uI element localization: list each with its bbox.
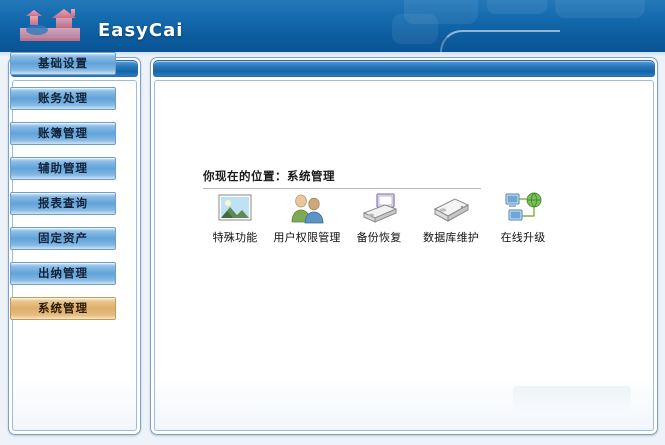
roof-house-logo-icon — [12, 4, 90, 48]
module-item[interactable]: 数据库维护 — [415, 185, 487, 245]
sidebar-item-system-management[interactable]: 系统管理 — [10, 297, 116, 320]
module-item-label: 在线升级 — [487, 229, 559, 245]
content-panel-titlebar — [153, 60, 655, 77]
module-item-label: 备份恢复 — [343, 229, 415, 245]
header-decoration-rect — [392, 14, 438, 44]
sidebar-item-ledger-management[interactable]: 账簿管理 — [10, 122, 116, 145]
module-item[interactable]: 备份恢复 — [343, 185, 415, 245]
content-panel: 你现在的位置：系统管理 特殊功能 用户权限管理 备份恢复 — [150, 57, 658, 435]
module-item-label: 特殊功能 — [199, 229, 271, 245]
sidebar-item-basic-settings[interactable]: 基础设置 — [10, 52, 116, 75]
backup-drive-screen-icon — [359, 191, 399, 225]
hard-disk-icon — [431, 191, 471, 225]
sidebar-item-account-processing[interactable]: 账务处理 — [10, 87, 116, 110]
header-decoration-swoosh — [440, 30, 560, 52]
content-panel-body: 你现在的位置：系统管理 特殊功能 用户权限管理 备份恢复 — [154, 80, 654, 431]
network-computers-globe-icon — [503, 191, 543, 225]
header-decoration-rect — [487, 0, 547, 14]
module-item[interactable]: 用户权限管理 — [271, 185, 343, 245]
sidebar-item-cashier-management[interactable]: 出纳管理 — [10, 262, 116, 285]
content-watermark — [513, 386, 631, 416]
sidebar-nav: 基础设置账务处理账簿管理辅助管理报表查询固定资产出纳管理系统管理 — [10, 52, 116, 332]
module-item-label: 数据库维护 — [415, 229, 487, 245]
app-title: EasyCai — [98, 20, 183, 41]
picture-landscape-icon — [215, 191, 255, 225]
sidebar-item-fixed-assets[interactable]: 固定资产 — [10, 227, 116, 250]
two-users-icon — [287, 191, 327, 225]
module-item[interactable]: 在线升级 — [487, 185, 559, 245]
header-banner: EasyCai — [0, 0, 665, 52]
sidebar-item-report-query[interactable]: 报表查询 — [10, 192, 116, 215]
module-grid: 特殊功能 用户权限管理 备份恢复 数据库维护 — [199, 185, 559, 245]
sidebar-item-auxiliary-management[interactable]: 辅助管理 — [10, 157, 116, 180]
module-item[interactable]: 特殊功能 — [199, 185, 271, 245]
header-decoration-rect — [555, 0, 645, 18]
module-item-label: 用户权限管理 — [271, 229, 343, 245]
